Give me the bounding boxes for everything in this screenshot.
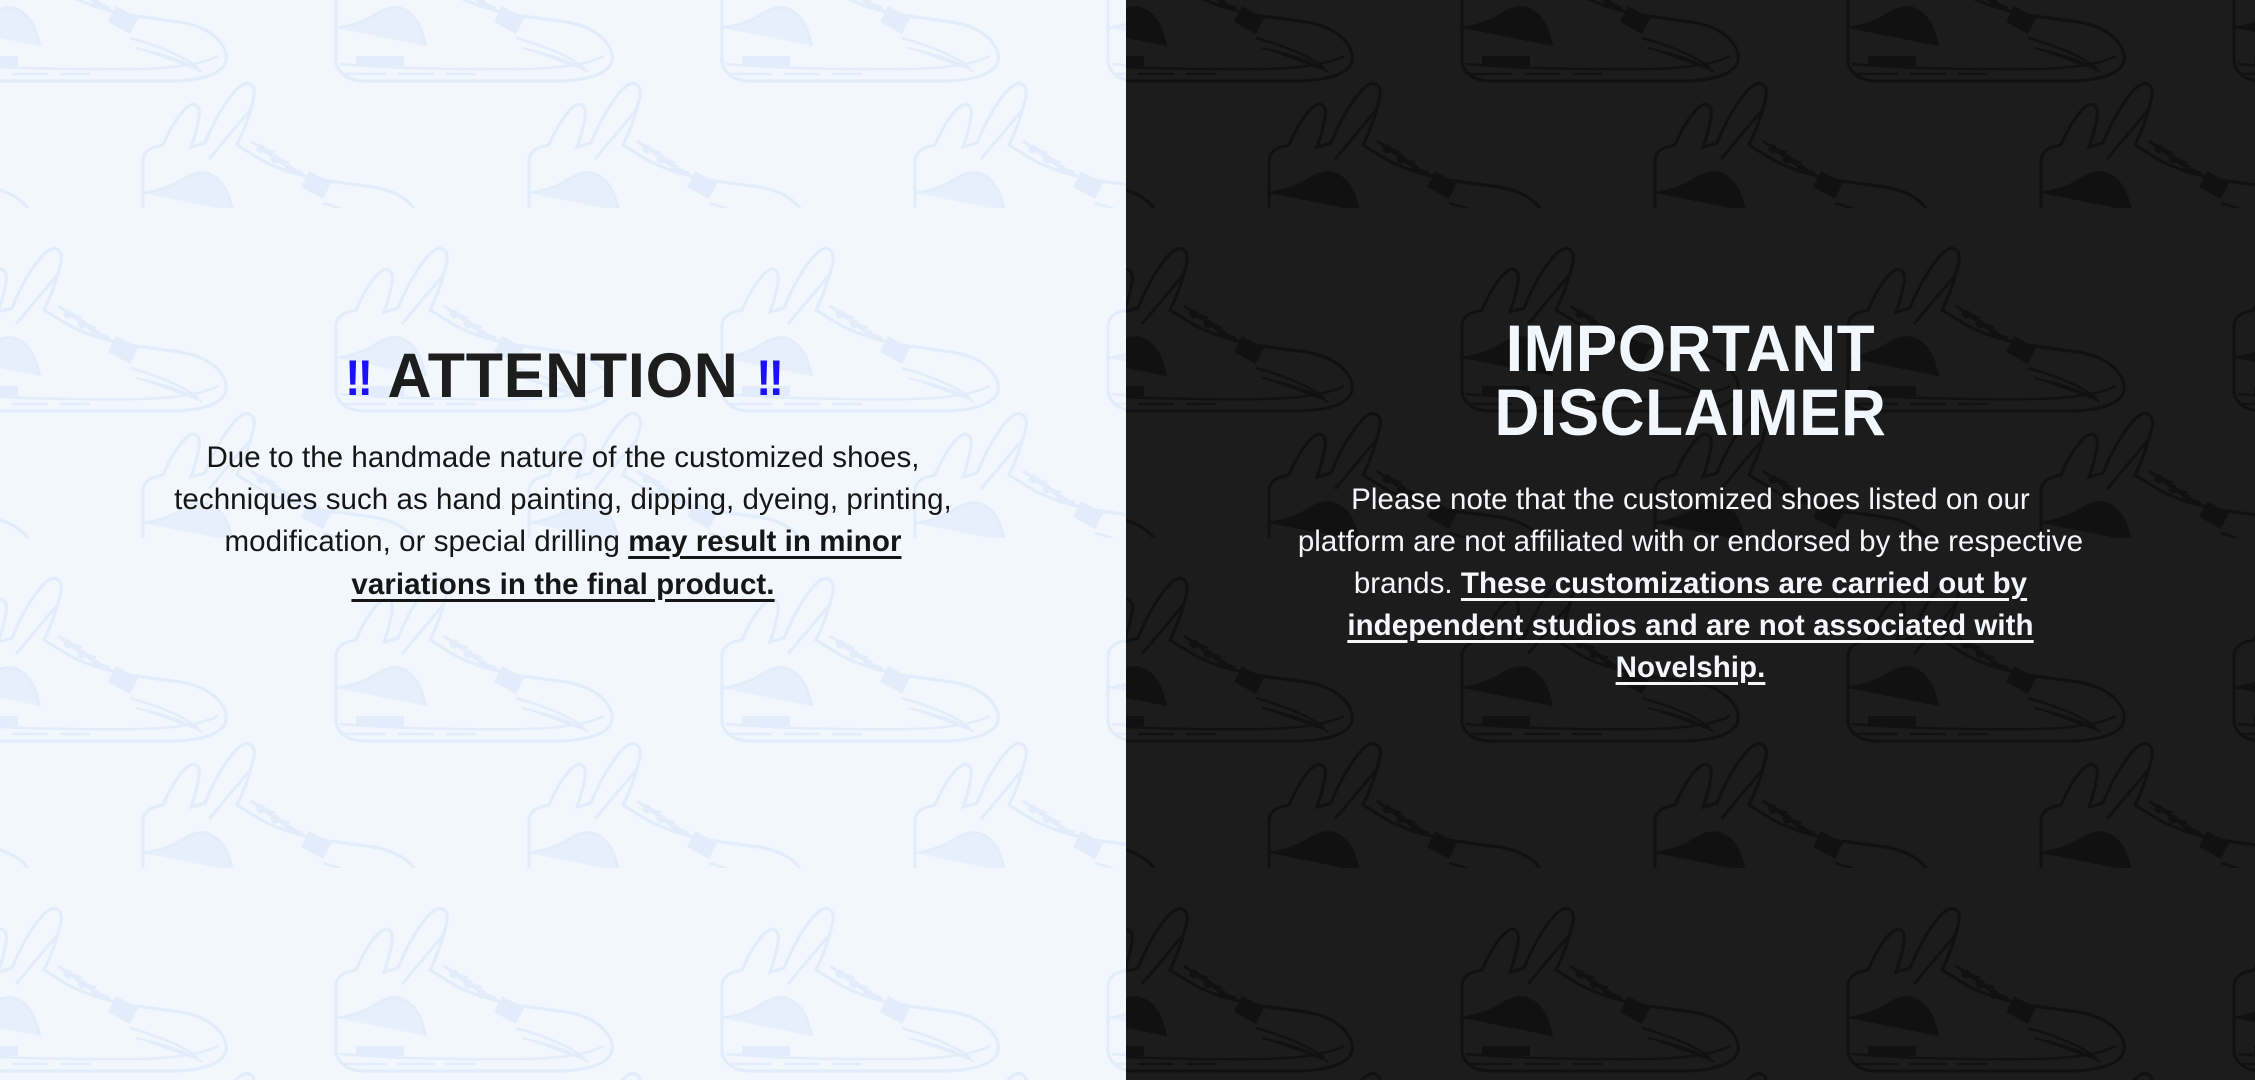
double-exclamation-icon-right: ‼: [756, 353, 781, 403]
disclaimer-body: Please note that the customized shoes li…: [1296, 479, 2086, 690]
attention-heading: ‼ATTENTION‼: [344, 345, 782, 406]
disclaimer-heading-line-2: DISCLAIMER: [1495, 380, 1887, 448]
attention-body: Due to the handmade nature of the custom…: [168, 437, 958, 606]
attention-content: ‼ATTENTION‼ Due to the handmade nature o…: [0, 0, 1126, 1080]
disclaimer-heading: IMPORTANT DISCLAIMER: [1495, 318, 1887, 446]
promo-banner: ‼ATTENTION‼ Due to the handmade nature o…: [0, 0, 2255, 1080]
double-exclamation-icon-left: ‼: [345, 353, 370, 403]
attention-panel: ‼ATTENTION‼ Due to the handmade nature o…: [0, 0, 1126, 1080]
disclaimer-content: IMPORTANT DISCLAIMER Please note that th…: [1126, 0, 2255, 1080]
disclaimer-heading-line-1: IMPORTANT: [1495, 316, 1887, 384]
disclaimer-panel: IMPORTANT DISCLAIMER Please note that th…: [1126, 0, 2255, 1080]
attention-heading-word: ATTENTION: [371, 344, 754, 407]
